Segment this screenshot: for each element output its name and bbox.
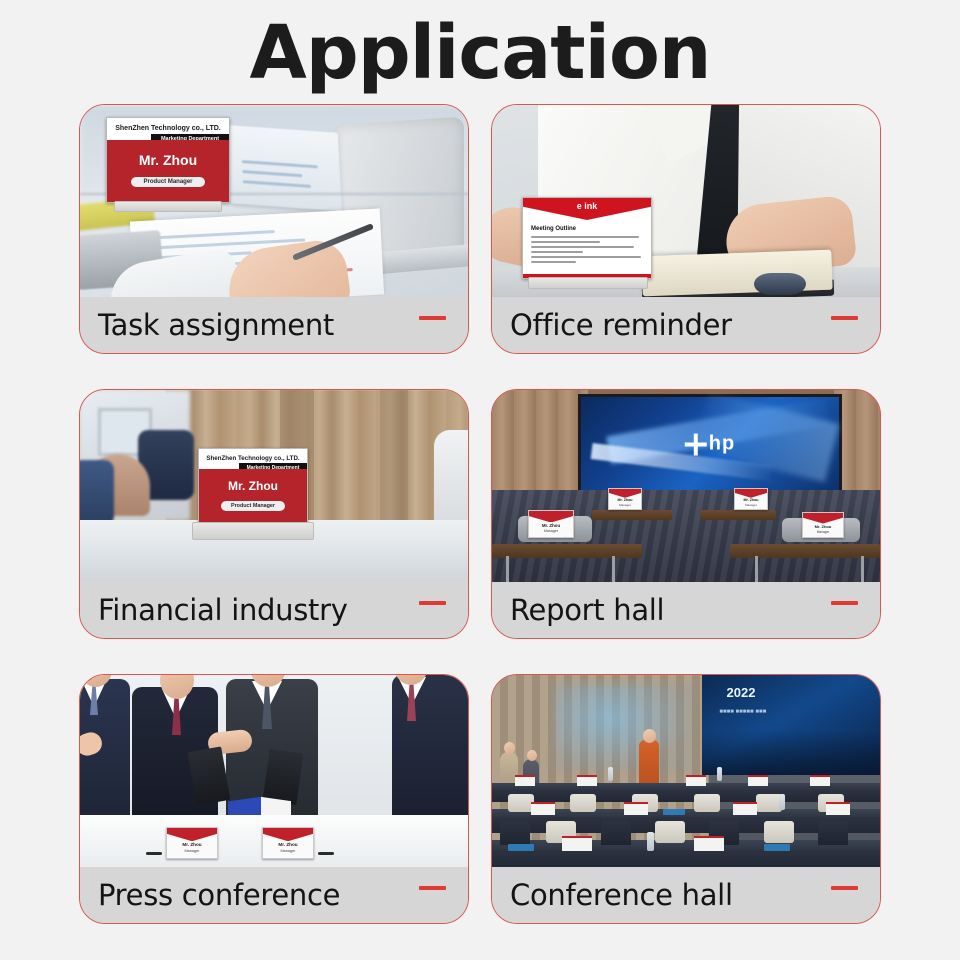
dash-marker-icon (419, 316, 446, 320)
card-label-row-conference-hall: Conference hall (492, 867, 880, 923)
dash-marker-icon (831, 316, 858, 320)
desk-name-badge: Mr. Zhou Manager (262, 827, 314, 859)
name-badge-device: ShenZhen Technology co., LTD. Marketing … (106, 117, 230, 203)
desk-name-card (810, 775, 830, 786)
badge-person-name: Mr. Zhou (199, 479, 307, 493)
application-card-financial-industry[interactable]: ShenZhen Technology co., LTD. Marketing … (79, 389, 469, 639)
card-label-task-assignment: Task assignment (98, 308, 334, 342)
card-photo-task-assignment: ShenZhen Technology co., LTD. Marketing … (80, 105, 468, 297)
card-label-financial-industry: Financial industry (98, 593, 348, 627)
card-photo-office-reminder: e ink Meeting Outline (492, 105, 880, 297)
card-photo-report-hall: hp (492, 390, 880, 582)
dash-marker-icon (419, 601, 446, 605)
desk-name-badge: Mr. Zhou Manager (166, 827, 218, 859)
dash-marker-icon (831, 601, 858, 605)
eink-reminder-device: e ink Meeting Outline (522, 197, 652, 279)
desk-name-badge: Mr. Zhou Manager (734, 488, 768, 510)
application-card-conference-hall[interactable]: 2022 ■■■■ ■■■■■ ■■■ (491, 674, 881, 924)
desk-name-card (694, 836, 724, 851)
card-label-office-reminder: Office reminder (510, 308, 732, 342)
card-photo-financial-industry: ShenZhen Technology co., LTD. Marketing … (80, 390, 468, 582)
card-photo-conference-hall: 2022 ■■■■ ■■■■■ ■■■ (492, 675, 880, 867)
application-card-press-conference[interactable]: Mr. Zhou Manager Mr. Zhou Manager Press … (79, 674, 469, 924)
desk-name-card (748, 775, 768, 786)
desk-name-card (577, 775, 597, 786)
hp-logo-icon: hp (685, 433, 735, 456)
desk-name-card (531, 802, 555, 815)
application-card-task-assignment[interactable]: ShenZhen Technology co., LTD. Marketing … (79, 104, 469, 354)
card-label-report-hall: Report hall (510, 593, 664, 627)
card-label-press-conference: Press conference (98, 878, 340, 912)
application-card-office-reminder[interactable]: e ink Meeting Outline (491, 104, 881, 354)
card-label-row-task-assignment: Task assignment (80, 297, 468, 353)
badge-person-role: Product Manager (131, 177, 204, 187)
page-title: Application (0, 0, 960, 104)
desk-name-card (624, 802, 648, 815)
application-page: Application (0, 0, 960, 960)
stage-banner-year: 2022 (727, 685, 756, 700)
dash-marker-icon (831, 886, 858, 890)
eink-brand-banner: e ink (523, 198, 651, 220)
card-label-row-report-hall: Report hall (492, 582, 880, 638)
dash-marker-icon (419, 886, 446, 890)
desk-name-card (515, 775, 535, 786)
card-label-conference-hall: Conference hall (510, 878, 733, 912)
desk-name-card (826, 802, 850, 815)
desk-name-badge: Mr. Zhou Manager (528, 510, 574, 538)
desk-name-card (686, 775, 706, 786)
card-label-row-press-conference: Press conference (80, 867, 468, 923)
eink-heading: Meeting Outline (531, 226, 643, 232)
desk-name-card (733, 802, 757, 815)
application-card-grid: ShenZhen Technology co., LTD. Marketing … (0, 104, 960, 924)
application-card-report-hall[interactable]: hp (491, 389, 881, 639)
badge-person-name: Mr. Zhou (107, 152, 229, 168)
badge-person-role: Product Manager (221, 501, 285, 511)
card-label-row-office-reminder: Office reminder (492, 297, 880, 353)
card-label-row-financial-industry: Financial industry (80, 582, 468, 638)
card-photo-press-conference: Mr. Zhou Manager Mr. Zhou Manager (80, 675, 468, 867)
desk-name-badge: Mr. Zhou Manager (608, 488, 642, 510)
desk-name-badge: Mr. Zhou Manager (802, 512, 844, 538)
desk-name-card (562, 836, 592, 851)
name-badge-device: ShenZhen Technology co., LTD. Marketing … (198, 448, 308, 524)
